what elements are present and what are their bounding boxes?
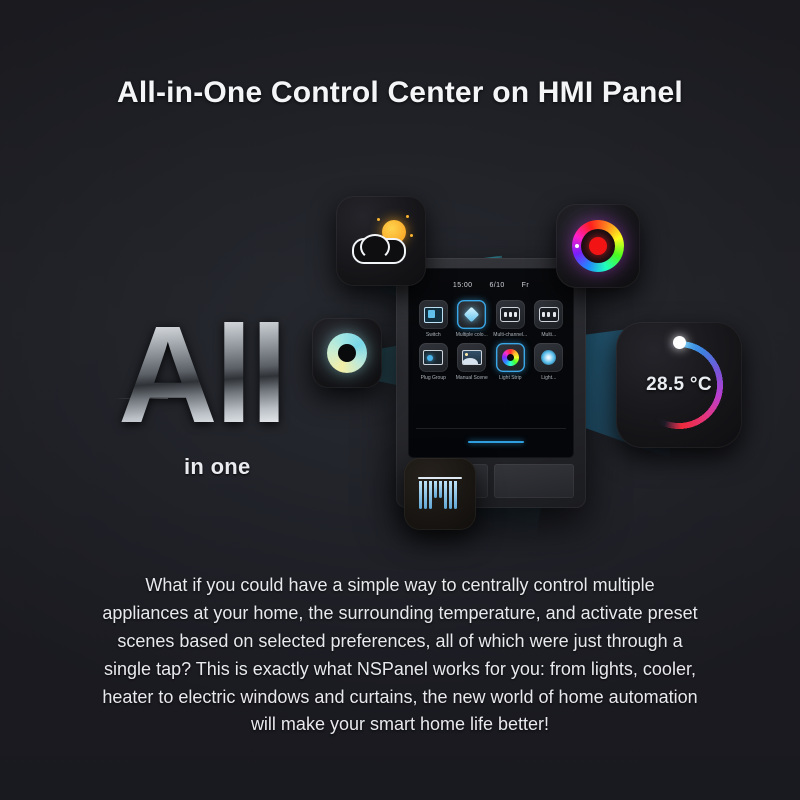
panel-app-grid: Switch Multiple colo... Multi-channel... <box>414 300 568 381</box>
light-ring-card[interactable] <box>312 318 382 388</box>
tile-surface[interactable] <box>419 343 448 372</box>
light-icon <box>541 350 556 365</box>
tile-label: Light Strip <box>499 375 522 381</box>
panel-tile-multiple-colors[interactable]: Multiple colo... <box>453 300 492 338</box>
cloud-puff <box>360 234 390 260</box>
curtain-rod <box>418 477 462 479</box>
status-weekday: Fr <box>522 282 529 289</box>
panel-tile-light-strip[interactable]: Light Strip <box>491 343 530 381</box>
panel-tile-light[interactable]: Light... <box>530 343 569 381</box>
panel-divider <box>416 428 566 429</box>
tile-label: Light... <box>541 375 556 381</box>
tile-surface[interactable] <box>534 300 563 329</box>
panel-tile-manual-scene[interactable]: Manual Scene <box>453 343 492 381</box>
tile-label: Multiple colo... <box>456 332 488 338</box>
tile-surface[interactable] <box>457 300 486 329</box>
switch-icon <box>424 307 443 323</box>
panel-status-bar: 15:00 6/10 Fr <box>408 282 574 289</box>
weather-card[interactable] <box>336 196 426 286</box>
tile-surface[interactable] <box>534 343 563 372</box>
manual-scene-icon <box>462 350 482 365</box>
sun-ray <box>410 234 413 237</box>
tile-label: Manual Scene <box>456 375 488 381</box>
curtain-pleats <box>419 481 461 509</box>
tile-surface[interactable] <box>496 300 525 329</box>
hero-all-text: All <box>118 306 328 444</box>
status-time: 15:00 <box>453 282 473 289</box>
rgb-color-wheel-icon <box>572 220 624 272</box>
panel-page-indicator[interactable] <box>468 441 524 443</box>
multi-channel-icon <box>539 307 559 322</box>
tile-label: Switch <box>426 332 441 338</box>
tile-surface[interactable] <box>496 343 525 372</box>
multi-channel-icon <box>500 307 520 322</box>
tile-surface[interactable] <box>419 300 448 329</box>
sun-ray <box>406 215 409 218</box>
hue-marker <box>575 244 579 248</box>
sun-ray <box>377 218 380 221</box>
tile-label: Multi... <box>541 332 556 338</box>
tile-label: Multi-channel... <box>493 332 527 338</box>
page-title: All-in-One Control Center on HMI Panel <box>0 76 800 110</box>
tile-surface[interactable] <box>457 343 486 372</box>
panel-tile-plug-group[interactable]: Plug Group <box>414 343 453 381</box>
panel-tile-multi-channel-2[interactable]: Multi... <box>530 300 569 338</box>
light-glow-ring-icon <box>327 333 367 373</box>
panel-tile-switch[interactable]: Switch <box>414 300 453 338</box>
cloud-icon <box>352 234 402 264</box>
panel-tile-multi-channel[interactable]: Multi-channel... <box>491 300 530 338</box>
status-date: 6/10 <box>489 282 504 289</box>
thermostat-dial[interactable]: 28.5 °C <box>632 338 726 432</box>
curtain-blinds-icon <box>418 477 462 511</box>
temperature-value: 28.5 °C <box>632 338 726 432</box>
hero-all-wordmark: All in one <box>118 306 328 496</box>
selected-color-dot <box>589 237 607 255</box>
panel-screen: 15:00 6/10 Fr Switch Multiple colo... <box>408 268 574 458</box>
description-paragraph: What if you could have a simple way to c… <box>100 572 700 739</box>
curtain-card[interactable] <box>404 458 476 530</box>
hardware-button-right[interactable] <box>494 464 574 498</box>
plug-group-icon <box>423 350 443 365</box>
light-strip-icon <box>502 349 519 366</box>
tile-label: Plug Group <box>421 375 446 381</box>
thermostat-card[interactable]: 28.5 °C <box>616 322 742 448</box>
hero-subtitle: in one <box>184 454 251 480</box>
poster-stage: All-in-One Control Center on HMI Panel A… <box>0 0 800 800</box>
multi-color-icon <box>464 307 480 323</box>
rgb-color-card[interactable] <box>556 204 640 288</box>
weather-cloud-sun-icon <box>352 218 410 264</box>
